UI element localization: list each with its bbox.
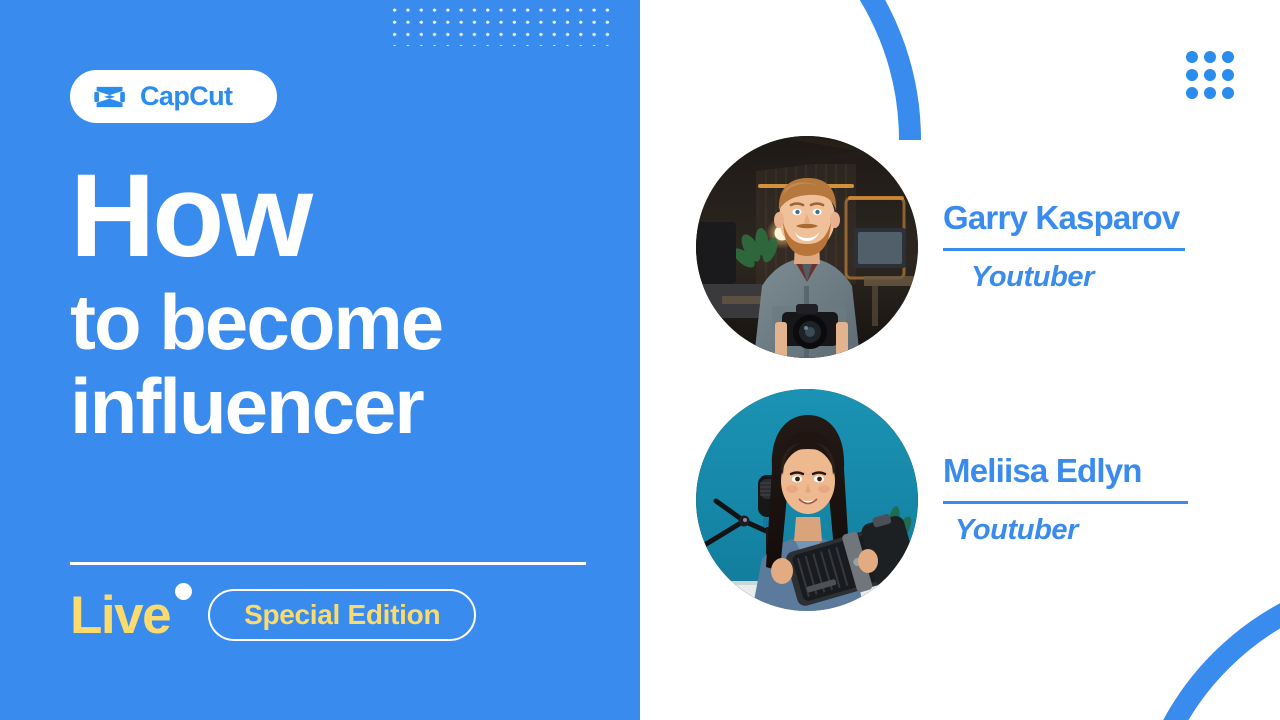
avatar-photo-garry-kasparov-icon (696, 136, 918, 358)
capcut-wordmark: CapCut (140, 83, 232, 110)
speaker-meta-1: Garry Kasparov Youtuber (943, 200, 1185, 293)
avatar (696, 389, 918, 611)
speaker-meta-2: Meliisa Edlyn Youtuber (943, 453, 1188, 546)
live-indicator-dot-icon (175, 583, 192, 600)
speaker-card-1[interactable]: Garry Kasparov Youtuber (696, 136, 1185, 358)
dot-grid-3x3-icon (1186, 51, 1234, 99)
special-edition-label: Special Edition (244, 601, 440, 629)
headline-line-1: How (70, 160, 630, 272)
live-badge-row: Live Special Edition (70, 586, 476, 644)
speaker-divider (943, 248, 1185, 251)
special-edition-badge[interactable]: Special Edition (208, 589, 476, 641)
speaker-divider (943, 501, 1188, 504)
headline-line-3: influencer (70, 364, 630, 448)
headline-divider (70, 562, 586, 565)
page-title: How to become influencer (70, 160, 630, 449)
capcut-logo[interactable]: CapCut (70, 70, 277, 123)
live-badge: Live (70, 589, 170, 642)
speaker-name: Meliisa Edlyn (943, 453, 1188, 489)
speaker-role: Youtuber (955, 515, 1188, 547)
avatar (696, 136, 918, 358)
speaker-role: Youtuber (971, 262, 1185, 294)
poster-canvas: CapCut How to become influencer Live Spe… (0, 0, 1280, 720)
dot-grid-pattern-icon (388, 4, 614, 46)
live-label: Live (70, 589, 170, 642)
avatar-photo-meliisa-edlyn-icon (696, 389, 918, 611)
speaker-card-2[interactable]: Meliisa Edlyn Youtuber (696, 389, 1188, 611)
capcut-hourglass-icon (92, 83, 129, 111)
headline-line-2: to become (70, 280, 630, 364)
speaker-name: Garry Kasparov (943, 200, 1185, 236)
